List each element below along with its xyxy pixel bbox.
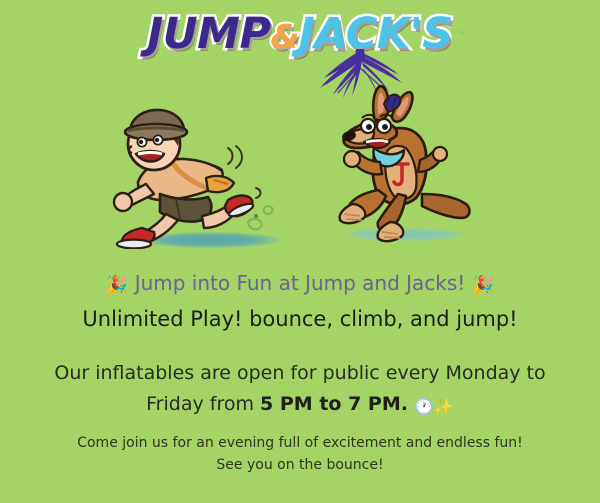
closing-line-1: Come join us for an evening full of exci…	[0, 432, 600, 454]
copy-block: 🎉 Jump into Fun at Jump and Jacks! 🎉 Unl…	[0, 268, 600, 335]
closing-line-2: See you on the bounce!	[0, 454, 600, 476]
logo-text-ampersand: &	[270, 17, 298, 56]
subheadline-text: Unlimited Play! bounce, climb, and jump!	[0, 303, 600, 335]
headline-text: Jump into Fun at Jump and Jacks!	[135, 271, 466, 295]
hours-prefix: Friday from	[146, 393, 260, 415]
trademark-symbol: ™	[457, 8, 466, 64]
sparkles-icon: ✨	[434, 397, 454, 416]
clock-icon: 🕐	[414, 397, 434, 416]
headline: 🎉 Jump into Fun at Jump and Jacks! 🎉	[0, 268, 600, 301]
promo-poster: JUMP&JACK'S™	[0, 0, 600, 503]
jumping-kangaroo-mascot-icon	[330, 82, 475, 247]
hours-block: Our inflatables are open for public ever…	[0, 358, 600, 422]
running-boy-mascot-icon	[98, 104, 278, 249]
hours-line-2: Friday from 5 PM to 7 PM. 🕐✨	[0, 389, 600, 422]
hours-line-1: Our inflatables are open for public ever…	[0, 358, 600, 389]
logo-text-jump: JUMP	[147, 9, 270, 59]
closing-block: Come join us for an evening full of exci…	[0, 432, 600, 476]
hours-time-range: 5 PM to 7 PM.	[260, 393, 408, 415]
party-popper-icon-left: 🎉	[106, 275, 128, 296]
party-popper-icon-right: 🎉	[472, 275, 494, 296]
